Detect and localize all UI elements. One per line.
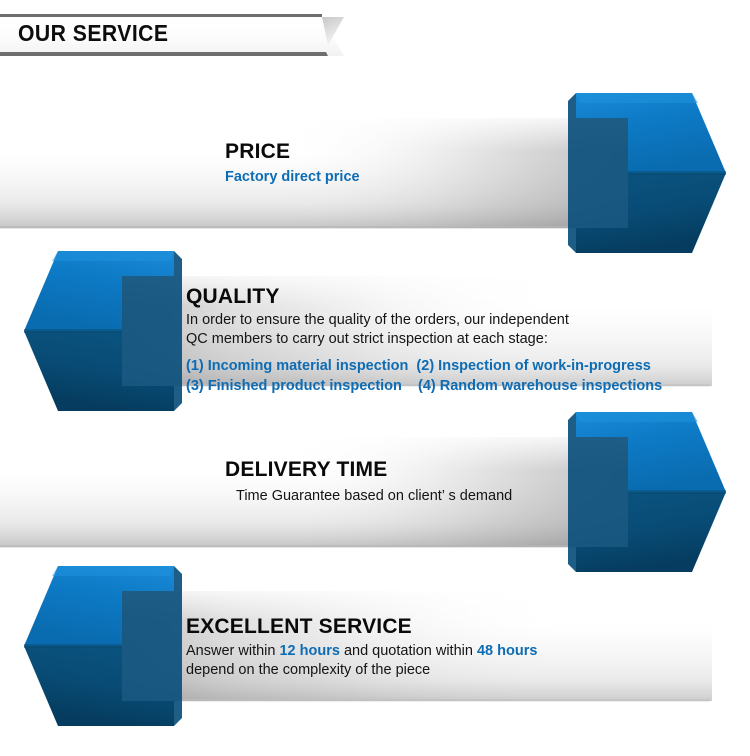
- row-text-delivery-time: DELIVERY TIME Time Guarantee based on cl…: [225, 458, 512, 506]
- row-line-quality-1: In order to ensure the quality of the or…: [186, 311, 662, 330]
- our-service-infographic: OUR SERVICE: [0, 0, 750, 756]
- row-subtitle-price: Factory direct price: [225, 168, 360, 187]
- service-row-excellent-service: EXCELLENT SERVICE Answer within 12 hours…: [0, 558, 750, 743]
- service-row-quality: QUALITY In order to ensure the quality o…: [0, 243, 750, 423]
- row-title-price: PRICE: [225, 140, 360, 163]
- row-list-quality-2: (3) Finished product inspection (4) Rand…: [186, 376, 662, 396]
- service-row-delivery-time: DELIVERY TIME Time Guarantee based on cl…: [0, 404, 750, 584]
- answer-prefix-text: Answer within: [186, 643, 279, 659]
- arrow-right-shape-price: [0, 85, 750, 265]
- row-text-excellent-service: EXCELLENT SERVICE Answer within 12 hours…: [186, 615, 537, 680]
- row-text-quality: QUALITY In order to ensure the quality o…: [186, 285, 662, 396]
- header-banner: OUR SERVICE: [0, 14, 344, 56]
- row-line-excellent-service-1: Answer within 12 hours and quotation wit…: [186, 642, 537, 661]
- quotation-prefix-text: and quotation within: [340, 643, 477, 659]
- row-line-quality-2: QC members to carry out strict inspectio…: [186, 330, 662, 349]
- page-title: OUR SERVICE: [18, 20, 168, 47]
- row-subtitle-delivery-time: Time Guarantee based on client’ s demand: [236, 487, 512, 506]
- service-row-price: PRICE Factory direct price: [0, 85, 750, 265]
- answer-hours-badge: 12 hours: [279, 643, 339, 659]
- row-title-delivery-time: DELIVERY TIME: [225, 458, 512, 481]
- row-text-price: PRICE Factory direct price: [225, 140, 360, 187]
- row-list-quality-1: (1) Incoming material inspection (2) Ins…: [186, 356, 662, 376]
- row-line-excellent-service-2: depend on the complexity of the piece: [186, 661, 537, 680]
- row-title-quality: QUALITY: [186, 285, 662, 308]
- quotation-hours-badge: 48 hours: [477, 643, 537, 659]
- row-title-excellent-service: EXCELLENT SERVICE: [186, 615, 537, 638]
